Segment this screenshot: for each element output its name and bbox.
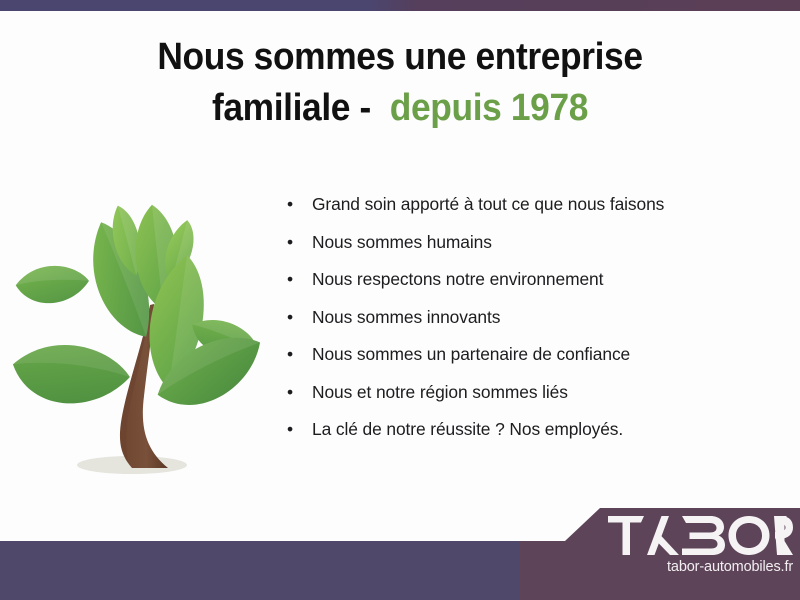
list-item-label: Nous respectons notre environnement (312, 269, 603, 289)
list-item-label: Nous sommes innovants (312, 307, 500, 327)
list-item-label: Grand soin apporté à tout ce que nous fa… (312, 194, 664, 214)
bullet-icon: • (287, 230, 293, 255)
list-item-label: Nous sommes humains (312, 232, 492, 252)
list-item: •Nous sommes humains (285, 230, 775, 255)
list-item: •Grand soin apporté à tout ce que nous f… (285, 192, 775, 217)
list-item-label: Nous et notre région sommes liés (312, 382, 568, 402)
brand-logo (608, 516, 793, 556)
page-title-line-1: Nous sommes une entreprise (28, 32, 772, 83)
bullet-icon: • (287, 342, 293, 367)
list-item: •Nous et notre région sommes liés (285, 380, 775, 405)
slide-canvas: Nous sommes une entreprise familiale - d… (0, 0, 800, 600)
list-item: •Nous sommes un partenaire de confiance (285, 342, 775, 367)
page-title-accent: depuis 1978 (390, 87, 588, 129)
value-list: •Grand soin apporté à tout ce que nous f… (285, 192, 775, 455)
tree-leaf (8, 322, 134, 426)
list-item-label: La clé de notre réussite ? Nos employés. (312, 419, 623, 439)
tree-leaf (13, 256, 91, 312)
bullet-icon: • (287, 192, 293, 217)
page-title-line-2: familiale - depuis 1978 (28, 83, 772, 134)
list-item-label: Nous sommes un partenaire de confiance (312, 344, 630, 364)
brand-url: tabor-automobiles.fr (608, 559, 793, 575)
list-item: •Nous sommes innovants (285, 305, 775, 330)
bullet-icon: • (287, 380, 293, 405)
list-item: •Nous respectons notre environnement (285, 267, 775, 292)
bullet-icon: • (287, 417, 293, 442)
tree-illustration (8, 188, 266, 494)
bullet-icon: • (287, 267, 293, 292)
top-accent-bar (0, 0, 800, 11)
bullet-icon: • (287, 305, 293, 330)
page-title-line-2-plain: familiale - (212, 87, 371, 129)
footer-left-band (0, 541, 586, 600)
page-title: Nous sommes une entreprise familiale - d… (28, 32, 772, 133)
list-item: •La clé de notre réussite ? Nos employés… (285, 417, 775, 442)
